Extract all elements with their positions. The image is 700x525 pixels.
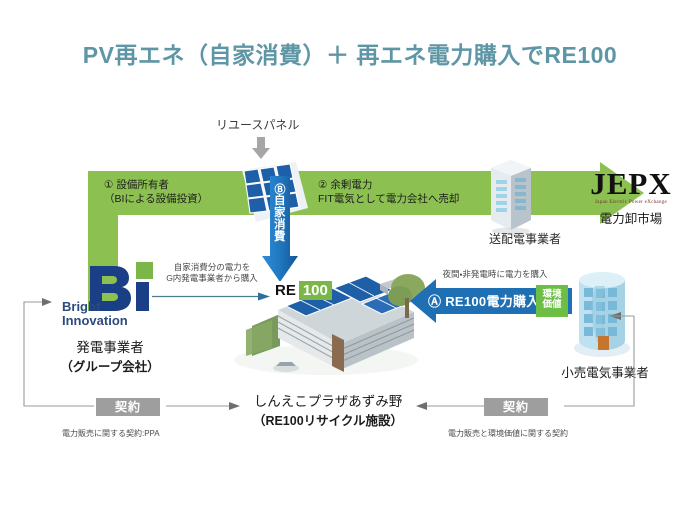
re100-badge-prefix: RE bbox=[272, 281, 299, 300]
left-contract-connector bbox=[12, 294, 244, 414]
re100-facility-building bbox=[228, 252, 428, 377]
jepx-logo-main: JEPX bbox=[572, 168, 690, 199]
facility-name: しんえこプラザあずみ野 （RE100リサイクル施設） bbox=[228, 390, 428, 429]
page-title: PV再エネ（自家消費）＋ 再エネ電力購入でRE100 bbox=[0, 36, 700, 70]
green-flow-step1: ① 設備所有者 （BIによる設備投資） bbox=[104, 178, 208, 206]
arrow-down-icon bbox=[252, 137, 270, 159]
reuse-panel-label: リユースパネル bbox=[216, 118, 299, 133]
green-flow-step2-line2: FIT電気として電力会社へ売却 bbox=[318, 192, 459, 206]
diagram-canvas: PV再エネ（自家消費）＋ 再エネ電力購入でRE100 ① 設備所有者 （BIによ… bbox=[0, 0, 700, 525]
green-flow-step1-line2: （BIによる設備投資） bbox=[104, 192, 208, 206]
contract-box-left: 契約 bbox=[96, 398, 160, 416]
nighttime-purchase-note: 夜間・非発電時に電力を購入 bbox=[420, 268, 570, 280]
jepx-label: 電力卸市場 bbox=[572, 208, 690, 227]
facility-name-subtitle: （RE100リサイクル施設） bbox=[228, 410, 428, 429]
green-flow-step1-line1: ① 設備所有者 bbox=[104, 178, 208, 192]
server-tower-icon bbox=[484, 158, 538, 234]
grid-operator-label: 送配電事業者 bbox=[470, 230, 580, 247]
green-flow-step2-line1: ② 余剰電力 bbox=[318, 178, 459, 192]
re100-badge-suffix: 100 bbox=[299, 281, 332, 300]
re100-badge: RE100 bbox=[272, 281, 332, 300]
contract-right-note: 電力販売と環境価値に関する契約 bbox=[448, 428, 568, 439]
contract-left-note: 電力販売に関する契約:PPA bbox=[62, 428, 160, 439]
facility-name-main: しんえこプラザあずみ野 bbox=[228, 390, 428, 410]
self-consumption-label: 自家消費 bbox=[265, 196, 295, 244]
right-contract-connector bbox=[412, 294, 652, 414]
green-flow-step2: ② 余剰電力 FIT電気として電力会社へ売却 bbox=[318, 178, 459, 206]
contract-box-right: 契約 bbox=[484, 398, 548, 416]
jepx-logo: JEPX Japan Electric Power eXchange bbox=[572, 168, 690, 205]
